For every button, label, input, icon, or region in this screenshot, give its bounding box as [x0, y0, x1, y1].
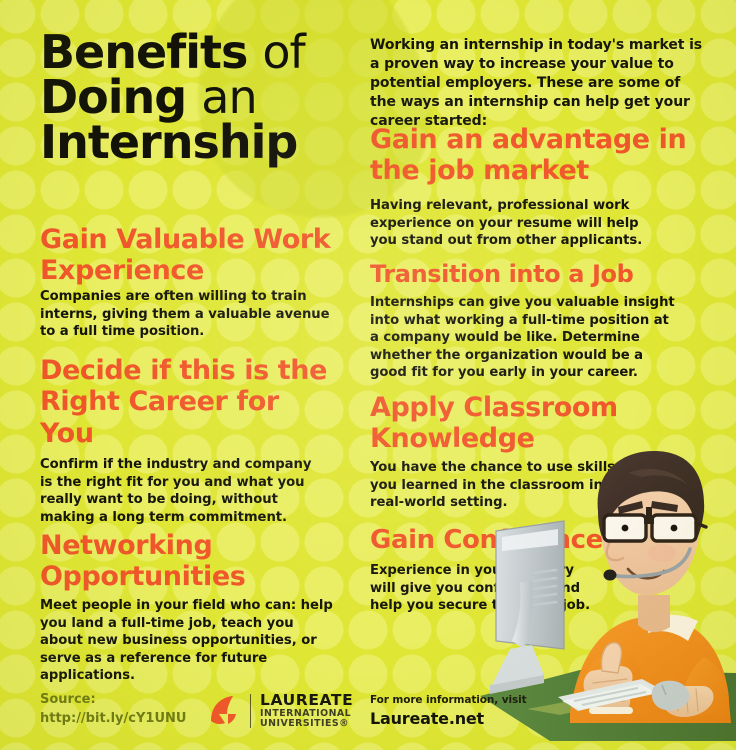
logo-line-3: UNIVERSITIES® — [260, 719, 353, 729]
infographic-canvas: Benefits of Doing an Internship Gain Val… — [0, 0, 736, 750]
source-credit: Source: http://bit.ly/cY1UNU — [40, 691, 186, 729]
logo-line-1: LAUREATE — [260, 692, 353, 709]
section-heading-decide-if-this-is-the-right-career-for-you: Decide if this is the Right Career for Y… — [40, 355, 340, 449]
head — [598, 451, 706, 595]
laureate-logo: LAUREATE INTERNATIONAL UNIVERSITIES® — [207, 692, 353, 729]
source-url[interactable]: http://bit.ly/cY1UNU — [40, 710, 186, 729]
source-label: Source: — [40, 691, 186, 710]
laureate-leaf-icon — [207, 694, 241, 728]
title-line-1-light: of — [262, 25, 304, 79]
title-line-3: Internship — [40, 115, 297, 169]
more-information: For more information, visit Laureate.net — [370, 694, 527, 728]
section-heading-transition-into-a-job: Transition into a Job — [370, 261, 700, 289]
section-body-transition-into-a-job: Internships can give you valuable insigh… — [370, 294, 678, 382]
section-body-decide-if-this-is-the-right-career-for-you: Confirm if the industry and company is t… — [40, 456, 326, 526]
section-heading-networking-opportunities: Networking Opportunities — [40, 530, 340, 593]
section-heading-gain-an-advantage-in-the-job-market: Gain an advantage in the job market — [370, 124, 690, 187]
neck — [638, 595, 670, 632]
more-info-site[interactable]: Laureate.net — [370, 709, 527, 728]
infographic-content: Benefits of Doing an Internship Gain Val… — [0, 0, 736, 750]
section-body-gain-an-advantage-in-the-job-market: Having relevant, professional work exper… — [370, 197, 662, 250]
logo-divider — [250, 694, 251, 728]
more-info-label: For more information, visit — [370, 694, 527, 706]
laureate-wordmark: LAUREATE INTERNATIONAL UNIVERSITIES® — [260, 692, 353, 729]
section-body-networking-opportunities: Meet people in your field who can: help … — [40, 597, 336, 685]
section-body-gain-valuable-work-experience: Companies are often willing to train int… — [40, 288, 332, 341]
intro-paragraph: Working an internship in today's market … — [370, 36, 706, 131]
section-heading-gain-valuable-work-experience: Gain Valuable Work Experience — [40, 224, 340, 287]
page-title: Benefits of Doing an Internship — [40, 30, 360, 165]
computer-monitor — [490, 521, 564, 694]
